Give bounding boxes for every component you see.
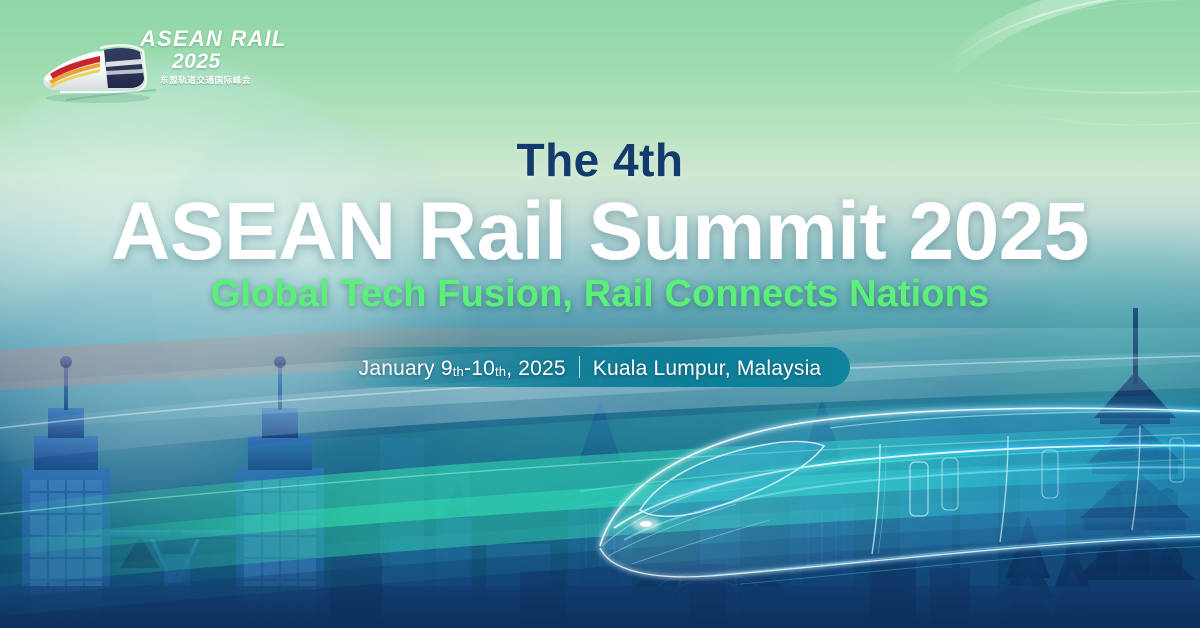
page-tagline: Global Tech Fusion, Rail Connects Nation… — [0, 273, 1200, 316]
logo-chinese-subtitle: 东盟轨道交通国际峰会 — [160, 74, 251, 86]
event-day-start-ordinal: th — [453, 364, 464, 379]
page-title: ASEAN Rail Summit 2025 — [0, 185, 1200, 279]
event-day-end-ordinal: th — [495, 364, 506, 379]
page-pretitle: The 4th — [0, 133, 1200, 187]
badge-separator — [579, 356, 580, 378]
city-skyline-silhouette — [0, 268, 1200, 628]
date-location-text: January 9th-10th, 2025Kuala Lumpur, Mala… — [359, 353, 822, 381]
event-month: January — [359, 357, 435, 381]
logo-wordmark: ASEAN RAIL — [140, 26, 286, 52]
date-location-badge: January 9th-10th, 2025Kuala Lumpur, Mala… — [330, 347, 850, 387]
event-logo: ASEAN RAIL 2025 东盟轨道交通国际峰会 — [36, 22, 276, 114]
event-year: , 2025 — [506, 357, 566, 381]
event-day-start: 9 — [441, 357, 453, 381]
wireframe-train-icon — [580, 378, 1200, 628]
event-day-end: 10 — [471, 357, 495, 381]
event-location: Kuala Lumpur, Malaysia — [593, 357, 822, 381]
logo-year: 2025 — [172, 50, 221, 74]
event-banner: ASEAN RAIL 2025 东盟轨道交通国际峰会 The 4th ASEAN… — [0, 0, 1200, 628]
bokeh-glow-icon — [330, 300, 710, 560]
